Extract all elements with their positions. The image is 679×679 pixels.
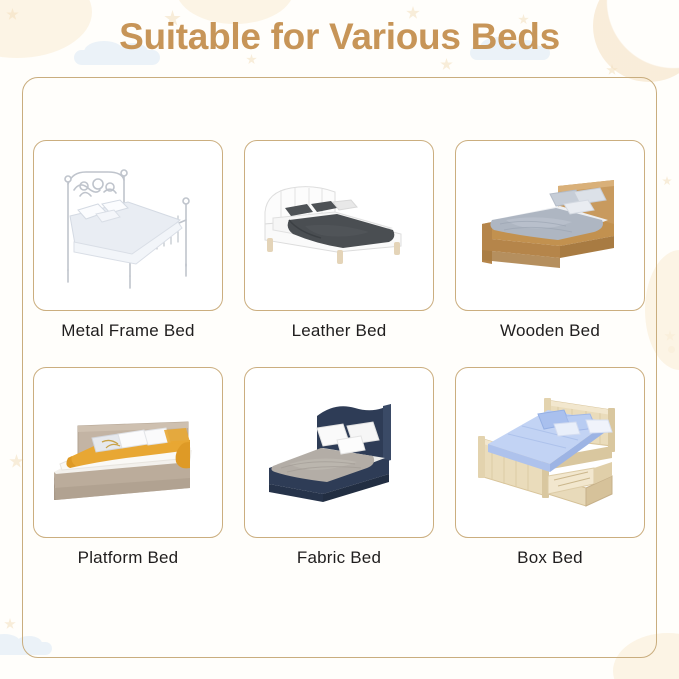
bed-label-fabric-bed: Fabric Bed [297, 549, 381, 568]
star-icon-6 [606, 64, 618, 76]
leather-bed-illustration [251, 146, 427, 306]
bed-label-box-bed: Box Bed [517, 549, 583, 568]
bed-card-platform-bed[interactable]: Platform Bed [33, 367, 223, 568]
bed-label-wooden-bed: Wooden Bed [500, 322, 600, 341]
bed-image-fabric-bed [244, 367, 434, 538]
wooden-bed-illustration [462, 146, 638, 306]
star-icon-4 [440, 58, 453, 71]
star-icon-10 [664, 330, 676, 342]
bed-image-leather-bed [244, 140, 434, 311]
page-title: Suitable for Various Beds [0, 16, 679, 58]
bed-image-metal-frame-bed [33, 140, 223, 311]
bed-label-leather-bed: Leather Bed [292, 322, 387, 341]
bed-image-platform-bed [33, 367, 223, 538]
bed-card-box-bed[interactable]: Box Bed [455, 367, 645, 568]
star-icon-11 [662, 176, 672, 186]
bed-card-metal-frame-bed[interactable]: Metal Frame Bed [33, 140, 223, 341]
background-dot-1 [668, 346, 675, 353]
fabric-bed-illustration [251, 372, 427, 532]
bed-type-grid: Metal Frame Bed [33, 140, 646, 567]
star-icon-9 [4, 618, 16, 630]
platform-bed-illustration [40, 372, 216, 532]
bed-image-box-bed [455, 367, 645, 538]
metal-frame-bed-illustration [40, 146, 216, 306]
bed-card-wooden-bed: Wooden Bed [455, 140, 645, 341]
suitable-beds-panel: Suitable for Various Beds [0, 0, 679, 679]
bed-label-platform-bed: Platform Bed [78, 549, 179, 568]
box-bed-illustration [462, 372, 638, 532]
bed-card-fabric-bed[interactable]: Fabric Bed [244, 367, 434, 568]
bed-image-wooden-bed [455, 140, 645, 311]
bed-card-leather-bed[interactable]: Leather Bed [244, 140, 434, 341]
bed-label-metal-frame-bed: Metal Frame Bed [61, 322, 194, 341]
